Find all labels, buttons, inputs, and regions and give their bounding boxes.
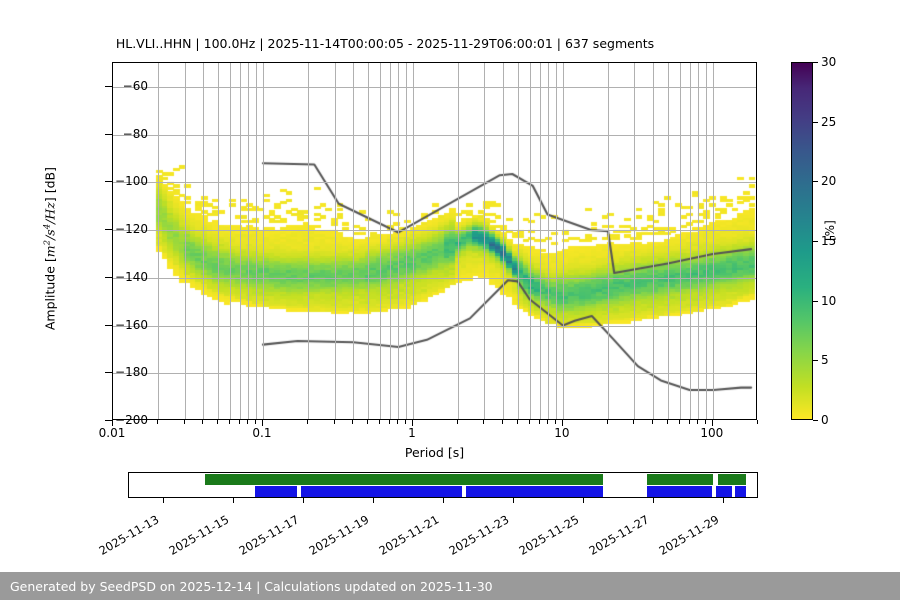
y-tick-mark: [105, 325, 112, 326]
colorbar-unit-label: [%]: [823, 181, 837, 241]
x-gridline: [713, 63, 714, 419]
x-tick-mark-minor: [352, 420, 353, 424]
x-gridline: [680, 63, 681, 419]
x-gridline: [518, 63, 519, 419]
colorbar-tick-label: 25: [821, 115, 836, 129]
data-coverage-timeline: [128, 472, 758, 498]
x-gridline: [540, 63, 541, 419]
colorbar-tick-mark: [813, 301, 818, 302]
x-tick-mark-minor: [255, 420, 256, 424]
x-gridline: [218, 63, 219, 419]
coverage-block-psd: [716, 486, 732, 497]
x-tick-mark-minor: [679, 420, 680, 424]
x-tick-mark-minor: [483, 420, 484, 424]
x-tick-mark-minor: [757, 420, 758, 424]
y-tick-label: −180: [115, 365, 148, 379]
y-tick-mark: [105, 372, 112, 373]
x-gridline: [256, 63, 257, 419]
y-tick-mark: [105, 420, 112, 421]
coverage-tick-mark: [583, 498, 584, 503]
x-tick-mark-minor: [633, 420, 634, 424]
colorbar-tick-mark: [813, 420, 818, 421]
x-tick-mark-minor: [405, 420, 406, 424]
coverage-date-label: 2025-11-27: [586, 512, 651, 558]
coverage-tick-mark: [443, 498, 444, 503]
x-gridline: [185, 63, 186, 419]
x-tick-mark-minor: [539, 420, 540, 424]
coverage-date-label: 2025-11-21: [376, 512, 441, 558]
x-tick-mark-minor: [239, 420, 240, 424]
coverage-date-label: 2025-11-17: [236, 512, 301, 558]
x-gridline: [706, 63, 707, 419]
colorbar-tick-label: 10: [821, 294, 836, 308]
x-tick-mark-minor: [229, 420, 230, 424]
x-tick-mark-minor: [307, 420, 308, 424]
colorbar-tick-label: 0: [821, 413, 829, 427]
x-tick-mark-minor: [652, 420, 653, 424]
y-tick-mark: [105, 181, 112, 182]
x-gridline: [690, 63, 691, 419]
coverage-tick-mark: [513, 498, 514, 503]
colorbar-tick-label: 20: [821, 174, 836, 188]
x-gridline: [248, 63, 249, 419]
x-gridline: [668, 63, 669, 419]
y-tick-mark: [105, 277, 112, 278]
x-gridline: [240, 63, 241, 419]
coverage-date-label: 2025-11-25: [516, 512, 581, 558]
y-tick-label: −100: [115, 174, 148, 188]
seedpsd-ppsd-figure: HL.VLI..HHN | 100.0Hz | 2025-11-14T00:00…: [0, 0, 900, 600]
x-gridline: [556, 63, 557, 419]
footer-bar: Generated by SeedPSD on 2025-12-14 | Cal…: [0, 572, 900, 600]
coverage-date-label: 2025-11-15: [166, 512, 231, 558]
x-tick-mark-minor: [517, 420, 518, 424]
x-tick-mark-minor: [157, 420, 158, 424]
page-title: HL.VLI..HHN | 100.0Hz | 2025-11-14T00:00…: [0, 36, 770, 51]
x-gridline: [458, 63, 459, 419]
x-gridline: [484, 63, 485, 419]
x-tick-mark-minor: [397, 420, 398, 424]
x-gridline: [263, 63, 264, 419]
y-tick-label: −140: [115, 270, 148, 284]
y-tick-label: −160: [115, 318, 148, 332]
x-tick-mark-minor: [689, 420, 690, 424]
colorbar-tick-mark: [813, 360, 818, 361]
x-tick-mark-minor: [457, 420, 458, 424]
coverage-tick-mark: [373, 498, 374, 503]
y-gridline: [113, 135, 756, 136]
x-tick-mark-minor: [334, 420, 335, 424]
x-tick-label: 1: [408, 426, 416, 440]
x-gridline: [634, 63, 635, 419]
x-gridline: [368, 63, 369, 419]
x-gridline: [230, 63, 231, 419]
y-gridline: [113, 326, 756, 327]
x-gridline: [548, 63, 549, 419]
coverage-block-available: [205, 474, 603, 485]
y-axis-label: Amplitude [m2/s4/Hz] [dB]: [42, 89, 57, 409]
x-tick-mark-minor: [379, 420, 380, 424]
y-tick-mark: [105, 134, 112, 135]
colorbar-tick-mark: [813, 181, 818, 182]
colorbar-tick-label: 5: [821, 353, 829, 367]
coverage-tick-mark: [303, 498, 304, 503]
colorbar-tick-mark: [813, 62, 818, 63]
x-tick-mark-minor: [555, 420, 556, 424]
coverage-block-available: [718, 474, 746, 485]
coverage-block-psd: [466, 486, 604, 497]
coverage-tick-mark: [163, 498, 164, 503]
x-gridline: [406, 63, 407, 419]
x-tick-label: 100: [700, 426, 723, 440]
x-tick-mark-minor: [502, 420, 503, 424]
x-tick-mark-minor: [547, 420, 548, 424]
x-gridline: [390, 63, 391, 419]
x-tick-mark-minor: [184, 420, 185, 424]
x-gridline: [398, 63, 399, 419]
x-tick-label: 10: [554, 426, 569, 440]
x-gridline: [308, 63, 309, 419]
coverage-tick-mark: [233, 498, 234, 503]
coverage-block-available: [647, 474, 713, 485]
colorbar-tick-mark: [813, 122, 818, 123]
y-tick-label: −80: [123, 127, 148, 141]
y-tick-mark: [105, 229, 112, 230]
colorbar: [791, 62, 813, 420]
colorbar-tick-label: 30: [821, 55, 836, 69]
x-tick-mark-minor: [667, 420, 668, 424]
x-tick-label: 0.1: [252, 426, 271, 440]
coverage-block-psd: [301, 486, 462, 497]
x-tick-mark-minor: [705, 420, 706, 424]
x-gridline: [413, 63, 414, 419]
y-tick-label: −120: [115, 222, 148, 236]
x-tick-mark-minor: [202, 420, 203, 424]
coverage-block-psd: [647, 486, 712, 497]
colorbar-tick-label: 15: [821, 234, 836, 248]
x-gridline: [608, 63, 609, 419]
x-gridline: [530, 63, 531, 419]
ppsd-plot-area: [112, 62, 757, 420]
x-gridline: [563, 63, 564, 419]
x-tick-mark-minor: [389, 420, 390, 424]
coverage-date-label: 2025-11-13: [96, 512, 161, 558]
y-gridline: [113, 278, 756, 279]
x-gridline: [335, 63, 336, 419]
x-tick-mark-minor: [247, 420, 248, 424]
x-gridline: [203, 63, 204, 419]
x-gridline: [503, 63, 504, 419]
coverage-tick-mark: [723, 498, 724, 503]
coverage-date-label: 2025-11-29: [656, 512, 721, 558]
x-tick-mark-minor: [529, 420, 530, 424]
x-axis-label: Period [s]: [112, 445, 757, 460]
x-tick-label: 0.01: [99, 426, 126, 440]
coverage-tick-mark: [653, 498, 654, 503]
y-gridline: [113, 373, 756, 374]
x-tick-mark-minor: [367, 420, 368, 424]
coverage-date-label: 2025-11-23: [446, 512, 511, 558]
y-gridline: [113, 87, 756, 88]
x-tick-mark-minor: [697, 420, 698, 424]
y-gridline: [113, 230, 756, 231]
x-gridline: [698, 63, 699, 419]
coverage-block-psd: [255, 486, 298, 497]
coverage-date-label: 2025-11-19: [306, 512, 371, 558]
x-tick-mark-minor: [217, 420, 218, 424]
x-gridline: [158, 63, 159, 419]
peterson-noise-model-curves: [113, 63, 757, 420]
x-gridline: [653, 63, 654, 419]
x-gridline: [380, 63, 381, 419]
coverage-block-psd: [735, 486, 746, 497]
y-tick-label: −200: [115, 413, 148, 427]
y-tick-label: −60: [123, 79, 148, 93]
y-gridline: [113, 182, 756, 183]
colorbar-tick-mark: [813, 241, 818, 242]
x-tick-mark-minor: [607, 420, 608, 424]
x-gridline: [353, 63, 354, 419]
y-tick-mark: [105, 86, 112, 87]
